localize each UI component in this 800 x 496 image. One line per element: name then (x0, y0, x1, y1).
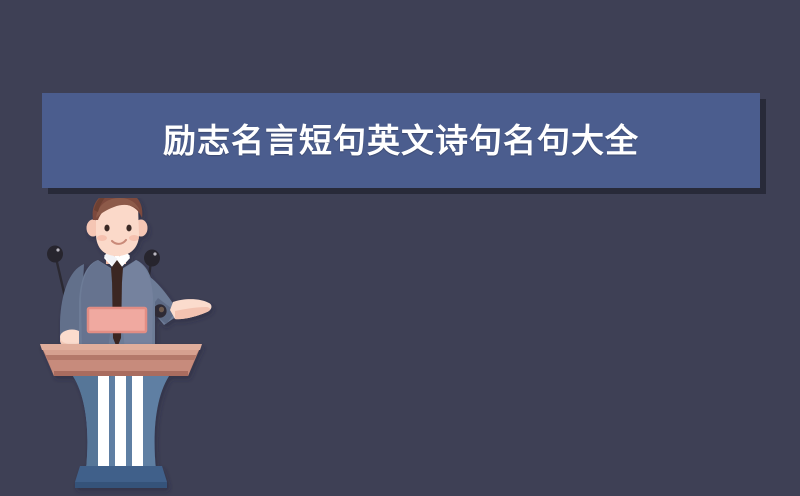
speaker-head (87, 198, 148, 256)
podium (40, 344, 202, 488)
podium-stripes (98, 376, 143, 466)
slide-canvas: 励志名言短句英文诗句名句大全 (0, 0, 800, 496)
speaker-at-podium-illustration (24, 198, 224, 496)
page-title: 励志名言短句英文诗句名句大全 (163, 124, 639, 157)
speaker-figure (60, 198, 211, 350)
title-banner: 励志名言短句英文诗句名句大全 (42, 93, 760, 188)
